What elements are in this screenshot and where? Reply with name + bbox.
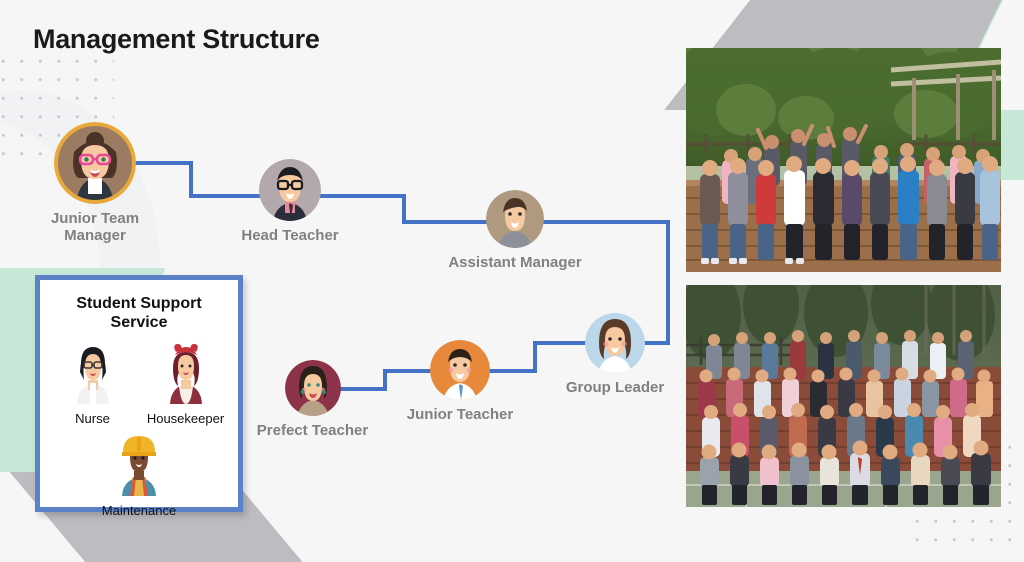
org-node-label: Junior Teacher bbox=[400, 406, 520, 423]
support-box-title: Student Support Service bbox=[40, 294, 238, 332]
junior-team-manager-avatar-icon bbox=[54, 122, 136, 204]
photo-group-formal-rows bbox=[686, 285, 1001, 507]
org-node-label: Head Teacher bbox=[230, 227, 350, 244]
support-item-nurse[interactable]: Nurse bbox=[47, 342, 139, 426]
support-item-label: Maintenance bbox=[93, 503, 185, 518]
photo-group-outdoor-cheering bbox=[686, 48, 1001, 272]
org-node-junior-team-manager[interactable]: Junior Team Manager bbox=[20, 122, 170, 245]
student-support-service-box[interactable]: Student Support Service Nurse bbox=[35, 275, 243, 512]
slide-canvas: Management Structure bbox=[0, 0, 1024, 562]
org-node-label: Assistant Manager bbox=[445, 254, 585, 271]
org-node-junior-teacher[interactable]: Junior Teacher bbox=[400, 340, 520, 423]
nurse-figure-icon bbox=[67, 342, 119, 404]
maintenance-worker-figure-icon bbox=[111, 430, 167, 496]
group-leader-avatar-icon bbox=[585, 313, 645, 373]
org-node-label: Junior Team Manager bbox=[20, 210, 170, 245]
prefect-teacher-avatar-icon bbox=[285, 360, 341, 416]
org-node-label: Prefect Teacher bbox=[255, 422, 370, 439]
support-item-label: Nurse bbox=[47, 411, 139, 426]
org-node-prefect-teacher[interactable]: Prefect Teacher bbox=[255, 360, 370, 439]
support-item-housekeeper[interactable]: Housekeeper bbox=[140, 342, 232, 426]
junior-teacher-avatar-icon bbox=[430, 340, 490, 400]
head-teacher-avatar-icon bbox=[259, 159, 321, 221]
org-node-label: Group Leader bbox=[555, 379, 675, 396]
org-node-assistant-manager[interactable]: Assistant Manager bbox=[445, 190, 585, 271]
assistant-manager-avatar-icon bbox=[486, 190, 544, 248]
support-item-label: Housekeeper bbox=[140, 411, 232, 426]
org-node-group-leader[interactable]: Group Leader bbox=[555, 313, 675, 396]
org-node-head-teacher[interactable]: Head Teacher bbox=[230, 159, 350, 244]
support-item-maintenance[interactable]: Maintenance bbox=[93, 430, 185, 518]
housekeeper-figure-icon bbox=[160, 342, 212, 404]
